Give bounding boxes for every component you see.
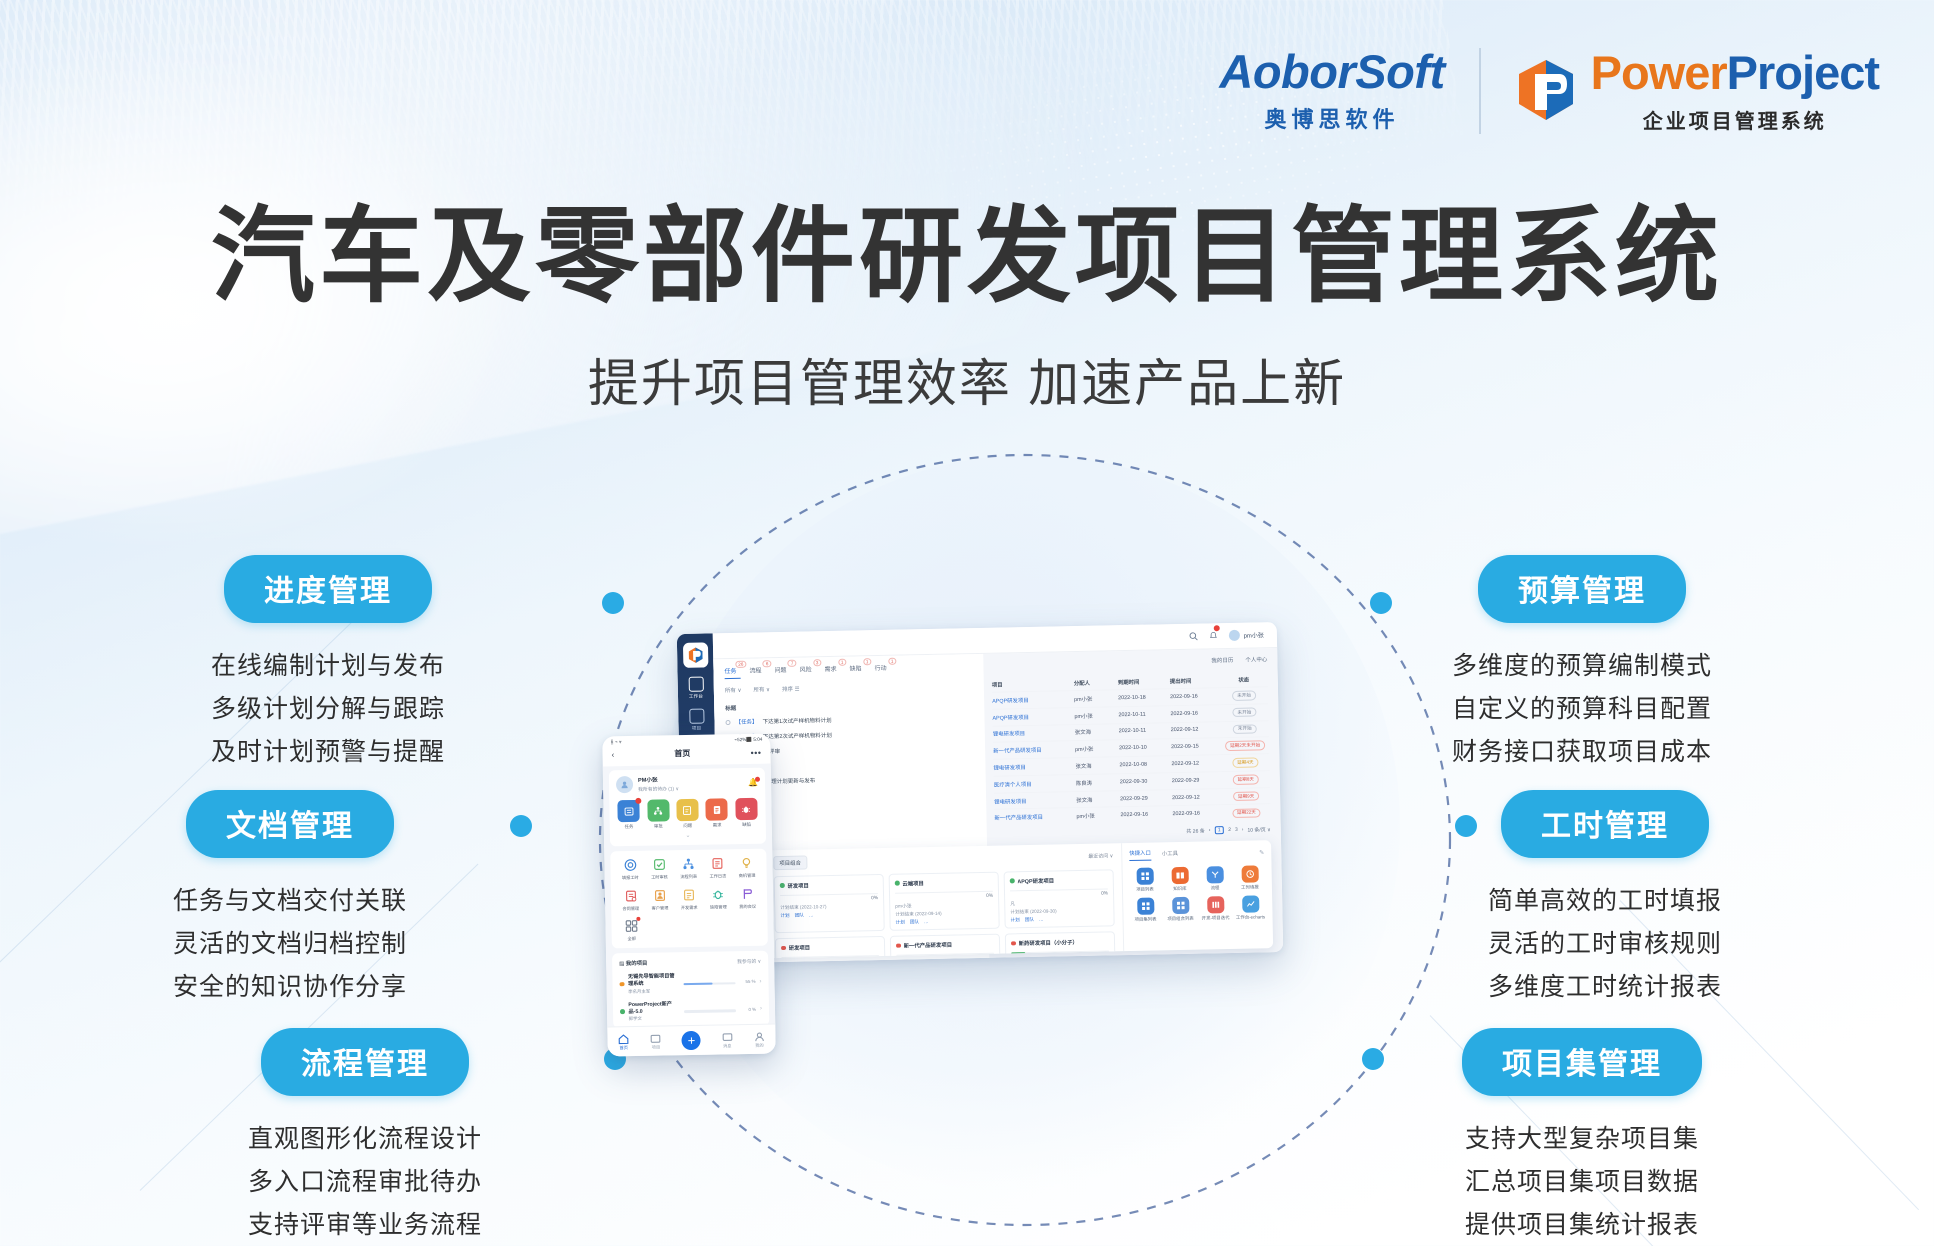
quick-item-dev-iteration[interactable]: 开发-项目迭代: [1200, 896, 1230, 922]
powerproject-logo: PowerProject 企业项目管理系统: [1515, 49, 1879, 134]
mobile-tile-requirements[interactable]: 需求: [705, 798, 730, 828]
fn-label: 流程列表: [676, 874, 701, 880]
plus-icon[interactable]: +: [682, 1031, 701, 1050]
col-status: 状态: [1222, 672, 1266, 687]
tab-label: 缺陷: [850, 666, 862, 672]
mobile-body: PM小张 我所有的待办 (1) ∨ 🔔 任务 审批 问题 需求 缺陷 ⌄ 填报工…: [603, 764, 776, 1057]
sort-select[interactable]: 最近访问 ∨: [1088, 853, 1113, 861]
tab-flows[interactable]: 流程6: [749, 665, 761, 678]
mobile-fn-dev-requirement[interactable]: 开发需求: [676, 887, 702, 911]
cell-status: 延期4天: [1223, 757, 1267, 767]
project-card[interactable]: APQP研发项目 0% 凡 计划结束 (2022-09-30) 计划团队…: [1004, 869, 1115, 929]
mobile-page-title: 首页: [674, 748, 690, 759]
feature-title-document: 文档管理: [186, 790, 394, 858]
cell-project: APQP研发项目: [992, 695, 1070, 705]
notification-bell[interactable]: [1208, 627, 1217, 645]
project-card[interactable]: 研发项目 0% 计划结束 (2022-10-10) 计划团队…: [775, 936, 886, 958]
tab-count: 26: [735, 661, 746, 668]
powerproject-mini-icon: [687, 647, 704, 664]
nav-label: 项目: [650, 1045, 662, 1051]
tile-label: 问题: [676, 823, 700, 829]
feature-lines-program: 支持大型复杂项目集 汇总项目集项目数据 提供项目集统计报表: [1432, 1118, 1732, 1246]
total-count: 共 26 条: [1186, 827, 1204, 834]
project-owner: 郭学文: [629, 1015, 681, 1022]
mobile-tile-issues[interactable]: 问题: [675, 799, 700, 829]
cell-raised: 2022-09-16: [1170, 710, 1218, 717]
hero-section: 汽车及零部件研发项目管理系统 提升项目管理效率 加速产品上新: [0, 200, 1934, 416]
feature-title-progress: 进度管理: [224, 555, 432, 623]
list-icon: [623, 805, 634, 816]
folder-icon: [650, 1032, 662, 1044]
sidebar-item-label: 工作台: [681, 693, 711, 700]
user-icon: [620, 780, 629, 789]
project-card[interactable]: 研发项目 0% 计划结束 (2022-10-27) 计划团队…: [774, 874, 885, 934]
quick-item-knowledge[interactable]: 知识库: [1165, 867, 1195, 893]
clock-icon: [1245, 870, 1254, 879]
bug-icon: [741, 803, 752, 814]
progress-percent: 0%: [780, 896, 878, 903]
card-action-plan[interactable]: 计划: [780, 913, 789, 919]
mobile-fn-opportunity[interactable]: 商机管理: [734, 855, 760, 879]
quick-item-label: 工作台-echarts: [1235, 914, 1265, 921]
portfolio-filter-button[interactable]: 项目组合: [773, 855, 807, 869]
progress-percent: 0%: [1010, 892, 1108, 899]
tab-requirements[interactable]: 需求1: [824, 664, 836, 677]
page-2[interactable]: 2: [1228, 827, 1231, 833]
cell-status: 未开始: [1223, 724, 1267, 734]
powerproject-wordmark: PowerProject: [1591, 49, 1879, 96]
project-name: 新一代产品研发项目: [903, 941, 952, 950]
tab-label: 行动: [875, 666, 887, 672]
cell-status: 未开始: [1222, 707, 1266, 717]
my-projects-title: ▤ 我的项目: [619, 959, 647, 967]
all-icon: [624, 919, 638, 933]
mobile-fn-flow-list[interactable]: 流程列表: [676, 856, 702, 880]
prev-page-button[interactable]: ‹: [1209, 828, 1211, 834]
status-badge: 未开始: [1233, 724, 1257, 734]
journal-icon: [711, 856, 725, 870]
filter-dropdown-1[interactable]: 所有 ∨: [725, 686, 742, 694]
card-action-more[interactable]: …: [809, 913, 814, 919]
page-3[interactable]: 3: [1235, 827, 1238, 833]
mobile-function-grid: 填报工时 工时审核 流程列表 工作日志 商机管理 合同管理 客户管理 开发需求 …: [617, 855, 760, 912]
chevron-right-icon[interactable]: ›: [759, 978, 761, 984]
col-assignee: 分配人: [1074, 675, 1114, 690]
sort-control[interactable]: 排序 ☰: [782, 685, 800, 693]
fn-label: 客户管理: [647, 905, 672, 911]
mobile-fn-defect[interactable]: 缺陷管理: [705, 886, 731, 910]
tile-label: 任务: [617, 824, 641, 830]
bottom-nav-project[interactable]: 项目: [650, 1031, 662, 1051]
tab-gadgets[interactable]: 小工具: [1162, 849, 1178, 860]
feature-document: 文档管理 任务与文档交付关联 灵活的文档归档控制 安全的知识协作分享: [140, 790, 440, 1009]
feature-line: 支持大型复杂项目集: [1432, 1118, 1732, 1161]
cell-project: 锂电研发项目: [993, 762, 1071, 772]
tab-actions[interactable]: 行动1: [874, 663, 886, 676]
project-card-grid: 研发项目 0% 计划结束 (2022-10-27) 计划团队… 云端项目 0% …: [774, 869, 1116, 958]
approve-icon: [653, 805, 664, 816]
filter-dropdown-2[interactable]: 所有 ∨: [753, 685, 770, 693]
tile-label: 需求: [705, 822, 730, 828]
bell-icon: [1208, 631, 1217, 640]
cell-project: 锂电研发项目: [993, 729, 1071, 739]
col-due: 到期时间: [1118, 674, 1166, 689]
mobile-fn-fill-timesheet[interactable]: 填报工时: [617, 857, 643, 881]
cell-due: 2022-10-11: [1119, 728, 1167, 735]
cell-due: 2022-10-11: [1118, 711, 1166, 718]
orbit-node: [510, 815, 532, 837]
orbit-node: [1362, 1048, 1384, 1070]
dashboard-panel: 项目组合 最近访问 ∨ 研发项目 0% 计划结束 (2022-10-27) 计划…: [765, 840, 1273, 958]
fn-label: 我的会议: [735, 904, 760, 910]
card-action-plan[interactable]: 计划: [1011, 917, 1020, 923]
chart-icon: [1246, 900, 1255, 909]
cell-assignee: 张文海: [1075, 728, 1115, 737]
quick-item-flow[interactable]: 流程: [1200, 866, 1230, 892]
project-cards-panel: 项目组合 最近访问 ∨ 研发项目 0% 计划结束 (2022-10-27) 计划…: [765, 843, 1123, 958]
project-deadline: 计划结束 (2022-10-27): [780, 903, 878, 911]
checkbox-icon[interactable]: [725, 720, 730, 725]
feature-line: 多维度的预算编制模式: [1432, 645, 1732, 688]
sidebar-item-label: 项目: [682, 725, 712, 732]
aoborsoft-wordmark-cn: 奥博思软件: [1219, 102, 1444, 134]
tab-label: 风险: [799, 667, 811, 673]
mobile-fn-meeting[interactable]: 我的会议: [735, 886, 761, 910]
bell-icon[interactable]: 🔔: [748, 778, 758, 787]
mobile-fn-contract[interactable]: 合同管理: [618, 888, 644, 912]
chevron-down-icon[interactable]: ⌄: [617, 831, 759, 840]
cell-assignee: 陈良涛: [1076, 778, 1116, 787]
grid-icon: [1140, 872, 1149, 881]
mobile-user-row[interactable]: PM小张 我所有的待办 (1) ∨ 🔔: [616, 774, 758, 793]
aoborsoft-wordmark: AoborSoft: [1219, 48, 1444, 95]
tile-label: 缺陷: [734, 822, 758, 828]
feature-progress: 进度管理 在线编制计划与发布 多级计划分解与跟踪 及时计划预警与提醒: [178, 555, 478, 774]
mobile-tile-row: 任务 审批 问题 需求 缺陷: [616, 798, 759, 830]
page-size-select[interactable]: 10 条/页 ∨: [1247, 826, 1271, 833]
next-page-button[interactable]: ›: [1242, 827, 1244, 833]
edit-icon: [682, 804, 693, 815]
mobile-projects-header: ▤ 我的项目 我参与的 ∨: [619, 957, 761, 967]
cell-assignee: pm小张: [1074, 711, 1114, 720]
chevron-right-icon[interactable]: ›: [760, 1006, 762, 1012]
fn-label: 工作日志: [705, 873, 730, 879]
quick-item-portfolio-list[interactable]: 项目组合列表: [1165, 897, 1195, 923]
status-dot: [781, 946, 786, 951]
task-title: 下达第2次试产样机物料计划: [763, 731, 832, 740]
customer-icon: [653, 888, 667, 902]
progress-percent: 0 %: [740, 1007, 756, 1012]
cell-assignee: pm小张: [1075, 745, 1115, 754]
page-1[interactable]: 1: [1214, 826, 1224, 834]
cell-raised: 2022-09-16: [1172, 811, 1220, 818]
project-cards-header: 项目组合 最近访问 ∨: [773, 849, 1113, 869]
powerproject-word-power: Power: [1591, 46, 1727, 99]
cell-raised: 2022-09-12: [1172, 794, 1220, 801]
bug-icon: [711, 887, 725, 901]
mobile-fn-work-journal[interactable]: 工作日志: [705, 855, 731, 879]
home-icon: [617, 1033, 629, 1045]
status-dot: [1011, 941, 1016, 946]
mobile-fn-all[interactable]: 全部: [618, 918, 644, 942]
target-icon: [623, 858, 637, 872]
fn-label: 商机管理: [734, 873, 759, 879]
contract-icon: [623, 889, 637, 903]
bottom-nav-message[interactable]: 消息: [721, 1030, 733, 1050]
task-tag: 【任务】: [735, 718, 757, 726]
mobile-user-card: PM小张 我所有的待办 (1) ∨ 🔔 任务 审批 问题 需求 缺陷 ⌄: [609, 768, 766, 847]
message-icon: [721, 1031, 733, 1043]
feature-line: 灵活的文档归档控制: [140, 923, 440, 966]
tab-label: 需求: [825, 667, 837, 673]
project-deadline: 计划结束 (2022-09-14): [895, 910, 993, 918]
quick-item-label: 项目集列表: [1131, 916, 1161, 923]
cell-raised: 2022-09-15: [1171, 743, 1219, 750]
cell-status: 延期22天: [1224, 808, 1268, 818]
quick-links: 我的日历 个人中心: [991, 655, 1267, 669]
search-icon[interactable]: [1188, 632, 1197, 641]
cell-due: 2022-09-30: [1120, 778, 1168, 785]
quick-item-project-list[interactable]: 项目列表: [1130, 867, 1160, 893]
nav-label: 消息: [721, 1044, 733, 1050]
feature-title-budget: 预算管理: [1478, 555, 1686, 623]
meeting-icon: [740, 887, 754, 901]
tile-label: 审批: [646, 823, 671, 829]
fn-label: 合同管理: [618, 906, 643, 912]
grid-icon: [1176, 901, 1185, 910]
status-left: ⣿ ⌁ ⩔: [610, 739, 621, 745]
progress-percent: 0%: [895, 894, 993, 901]
card-action-team[interactable]: 团队: [795, 913, 804, 919]
feature-line: 自定义的预算科目配置: [1432, 688, 1732, 731]
pencil-icon[interactable]: ✎: [1259, 849, 1264, 856]
pagination: 共 26 条 ‹ 1 2 3 › 10 条/页 ∨: [995, 825, 1271, 839]
project-name: 研发项目: [787, 881, 809, 889]
status-badge: 未开始: [1232, 707, 1256, 717]
mobile-fn-timesheet-review[interactable]: 工时审核: [647, 856, 673, 880]
bottom-nav-home[interactable]: 首页: [617, 1032, 629, 1052]
cell-due: 2022-10-18: [1118, 694, 1166, 701]
project-name: 新药研发项目（小分子）: [1018, 938, 1077, 947]
nav-label: 首页: [618, 1045, 630, 1051]
mobile-user-name: PM小张: [638, 775, 679, 784]
check-icon: [652, 857, 666, 871]
flow-icon: [681, 857, 695, 871]
card-action-more[interactable]: …: [1039, 917, 1044, 923]
logo-bar: AoborSoft 奥博思软件 PowerProject 企业项目管理系统: [1219, 48, 1879, 134]
powerproject-word-project: Project: [1727, 46, 1879, 99]
quick-item-label: 流程: [1200, 885, 1230, 892]
quick-item-label: 项目组合列表: [1166, 916, 1196, 923]
card-action-team[interactable]: 团队: [1025, 917, 1034, 923]
tab-quick-entry[interactable]: 快捷入口: [1129, 849, 1151, 861]
progress-bar: [684, 1009, 736, 1012]
personal-center-link[interactable]: 个人中心: [1245, 655, 1267, 663]
more-icon[interactable]: •••: [750, 747, 761, 757]
cell-due: 2022-10-10: [1119, 744, 1167, 751]
quick-entry-panel: 快捷入口 小工具 ✎ 项目列表 知识库 流程 工时填报 项目集列表 项目组合列表…: [1121, 840, 1273, 951]
task-title: 下达第1次试产样机物料计划: [762, 716, 831, 725]
project-owner: pm小张: [895, 901, 993, 910]
project-name: APQP研发项目: [1017, 876, 1054, 885]
feature-lines-progress: 在线编制计划与发布 多级计划分解与跟踪 及时计划预警与提醒: [178, 645, 478, 774]
status-badge: 未开始: [1232, 691, 1256, 701]
tab-count: 1: [863, 658, 872, 665]
feature-line: 在线编制计划与发布: [178, 645, 478, 688]
feature-line: 汇总项目集项目数据: [1432, 1161, 1732, 1204]
quick-item-timesheet[interactable]: 工时填报: [1235, 865, 1265, 891]
tab-tasks[interactable]: 任务26: [724, 666, 736, 679]
feature-line: 任务与文档交付关联: [140, 880, 440, 923]
feature-line: 多维度工时统计报表: [1455, 966, 1755, 1009]
mobile-tile-tasks[interactable]: 任务: [616, 800, 641, 830]
project-deadline: 计划结束 (2022-09-30): [1010, 908, 1108, 916]
project-name: 无锡先导智能项目管理系统: [628, 972, 680, 987]
book-icon: [1175, 871, 1184, 880]
cell-project: APQP研发项目: [992, 712, 1070, 722]
mobile-function-grid-card: 填报工时 工时审核 流程列表 工作日志 商机管理 合同管理 客户管理 开发需求 …: [610, 849, 768, 949]
status-dot: [895, 881, 900, 886]
feature-title-program: 项目集管理: [1462, 1028, 1702, 1096]
progress-bar: [684, 982, 736, 985]
status-right: ⌁52%⬛ 5:04: [734, 737, 762, 743]
cell-assignee: 张文海: [1076, 795, 1116, 804]
project-card[interactable]: 云端项目 0% pm小张 计划结束 (2022-09-14) 计划团队…: [889, 871, 1000, 931]
feature-timesheet: 工时管理 简单高效的工时填报 灵活的工时审核规则 多维度工时统计报表: [1455, 790, 1755, 1009]
fn-label: 全部: [619, 936, 645, 942]
cell-assignee: 张文海: [1075, 761, 1115, 770]
my-projects-filter[interactable]: 我参与的 ∨: [737, 957, 761, 964]
cell-status: 延期9天: [1224, 791, 1268, 801]
cell-raised: 2022-09-12: [1171, 760, 1219, 767]
quick-item-label: 知识库: [1165, 886, 1195, 893]
cell-project: 新一代产品研发项目: [993, 745, 1071, 755]
status-badge: 延期9天: [1233, 791, 1260, 801]
orbit-node: [1370, 592, 1392, 614]
quick-item-label: 工时填报: [1235, 884, 1265, 891]
tab-issues[interactable]: 问题7: [774, 665, 786, 678]
quick-entry-grid: 项目列表 知识库 流程 工时填报 项目集列表 项目组合列表 开发-项目迭代 工作…: [1130, 865, 1266, 923]
flow-icon: [1210, 870, 1219, 879]
status-badge: 延期8天: [1233, 774, 1260, 784]
folder-icon: [689, 709, 704, 724]
sidebar-item-project[interactable]: 项目: [681, 708, 711, 732]
card-action-more[interactable]: …: [924, 919, 929, 925]
mobile-fn-customer[interactable]: 客户管理: [647, 887, 673, 911]
idea-icon: [740, 856, 754, 870]
cell-status: 延期2天未开始: [1223, 741, 1267, 751]
feature-line: 安全的知识协作分享: [140, 966, 440, 1009]
status-badge: 延期22天: [1232, 808, 1261, 818]
status-badge: 延期4天: [1232, 758, 1259, 768]
cell-status: 未开始: [1222, 690, 1266, 700]
grid-icon: [1141, 902, 1150, 911]
tab-defects[interactable]: 缺陷1: [849, 663, 861, 676]
fn-label: 缺陷管理: [706, 904, 731, 910]
sidebar-item-workbench[interactable]: 工作台: [681, 676, 711, 700]
progress-percent: 55 %: [739, 979, 755, 984]
home-icon: [688, 677, 703, 692]
mobile-tile-defects[interactable]: 缺陷: [734, 798, 759, 828]
powerproject-wordmark-cn: 企业项目管理系统: [1591, 105, 1879, 134]
tab-risks[interactable]: 风险3: [799, 664, 811, 677]
feature-lines-timesheet: 简单高效的工时填报 灵活的工时审核规则 多维度工时统计报表: [1455, 880, 1755, 1009]
doc-icon: [711, 804, 722, 815]
avatar: [616, 776, 633, 793]
project-owner: 李名月主军: [628, 988, 680, 995]
my-calendar-link[interactable]: 我的日历: [1211, 656, 1233, 664]
columns-icon: [1211, 900, 1220, 909]
fn-label: 填报工时: [618, 875, 643, 881]
mobile-tile-approve[interactable]: 审批: [646, 799, 671, 829]
card-action-plan[interactable]: 计划: [896, 920, 905, 926]
aoborsoft-logo: AoborSoft 奥博思软件: [1219, 48, 1444, 134]
page-title: 汽车及零部件研发项目管理系统: [0, 200, 1934, 314]
tab-count: 7: [788, 660, 797, 667]
mobile-project-row[interactable]: PowerProject新产品-5.0 郭学文 0 % ›: [620, 998, 762, 1022]
feature-program: 项目集管理 支持大型复杂项目集 汇总项目集项目数据 提供项目集统计报表: [1432, 1028, 1732, 1246]
task-table: 项目 分配人 到期时间 提出时间 状态 APQP研发项目pm小张2022-10-…: [992, 672, 1271, 826]
mobile-project-row[interactable]: 无锡先导智能项目管理系统 李名月主军 55 % ›: [619, 971, 761, 995]
feature-line: 财务接口获取项目成本: [1432, 731, 1732, 774]
quick-item-program-list[interactable]: 项目集列表: [1130, 897, 1160, 923]
tab-count: 3: [813, 659, 822, 666]
mobile-projects-card: ▤ 我的项目 我参与的 ∨ 无锡先导智能项目管理系统 李名月主军 55 % › …: [612, 951, 769, 1029]
page-subtitle: 提升项目管理效率 加速产品上新: [0, 342, 1934, 416]
status-dot: [896, 944, 901, 949]
mobile-bottom-nav: 首页 项目 + 消息 我的: [607, 1024, 775, 1057]
tab-label: 问题: [774, 668, 786, 674]
mobile-app-mockup: ⣿ ⌁ ⩔ ⌁52%⬛ 5:04 ‹ 首页 ••• PM小张 我所有的待办 (1…: [602, 734, 776, 1057]
avatar: [1228, 630, 1239, 641]
feature-line: 简单高效的工时填报: [1455, 880, 1755, 923]
orbit-node: [602, 592, 624, 614]
user-menu[interactable]: pm小张: [1228, 629, 1264, 641]
cell-project: 锂电研发项目: [994, 796, 1072, 806]
cell-raised: 2022-09-16: [1170, 693, 1218, 700]
quick-entry-tabs: 快捷入口 小工具 ✎: [1129, 846, 1264, 861]
cell-project: 医疗清个人项目: [994, 779, 1072, 789]
project-owner: 凡: [1010, 899, 1108, 908]
bottom-nav-profile[interactable]: 我的: [753, 1029, 765, 1049]
cell-project: 新一代产品研发项目: [994, 813, 1072, 823]
card-action-team[interactable]: 团队: [910, 919, 919, 925]
feature-line: 灵活的工时审核规则: [1455, 923, 1755, 966]
feature-title-flow: 流程管理: [261, 1028, 469, 1096]
quick-item-echarts[interactable]: 工作台-echarts: [1235, 895, 1265, 921]
cell-status: 延期8天: [1224, 774, 1268, 784]
status-dot: [1010, 879, 1015, 884]
logo-divider: [1479, 48, 1481, 134]
feature-line: 提供项目集统计报表: [1432, 1204, 1732, 1246]
quick-item-label: 项目列表: [1130, 886, 1160, 893]
mobile-user-subtitle[interactable]: 我所有的待办 (1) ∨: [638, 785, 679, 793]
bottom-nav-add[interactable]: +: [682, 1031, 701, 1050]
col-raised: 提出时间: [1170, 673, 1218, 688]
feature-lines-document: 任务与文档交付关联 灵活的文档归档控制 安全的知识协作分享: [140, 880, 440, 1009]
project-name: PowerProject新产品-5.0: [628, 1000, 680, 1015]
cell-due: 2022-09-29: [1120, 795, 1168, 802]
feature-line: 及时计划预警与提醒: [178, 731, 478, 774]
fn-label: 工时审核: [647, 874, 672, 880]
project-name: 云端项目: [902, 879, 924, 887]
chevron-left-icon[interactable]: ‹: [611, 750, 614, 759]
user-icon: [753, 1030, 765, 1042]
nav-label: 我的: [753, 1043, 765, 1049]
feature-line: 直观图形化流程设计: [215, 1118, 515, 1161]
tab-label: 任务: [724, 669, 736, 675]
cell-raised: 2022-09-12: [1171, 727, 1219, 734]
